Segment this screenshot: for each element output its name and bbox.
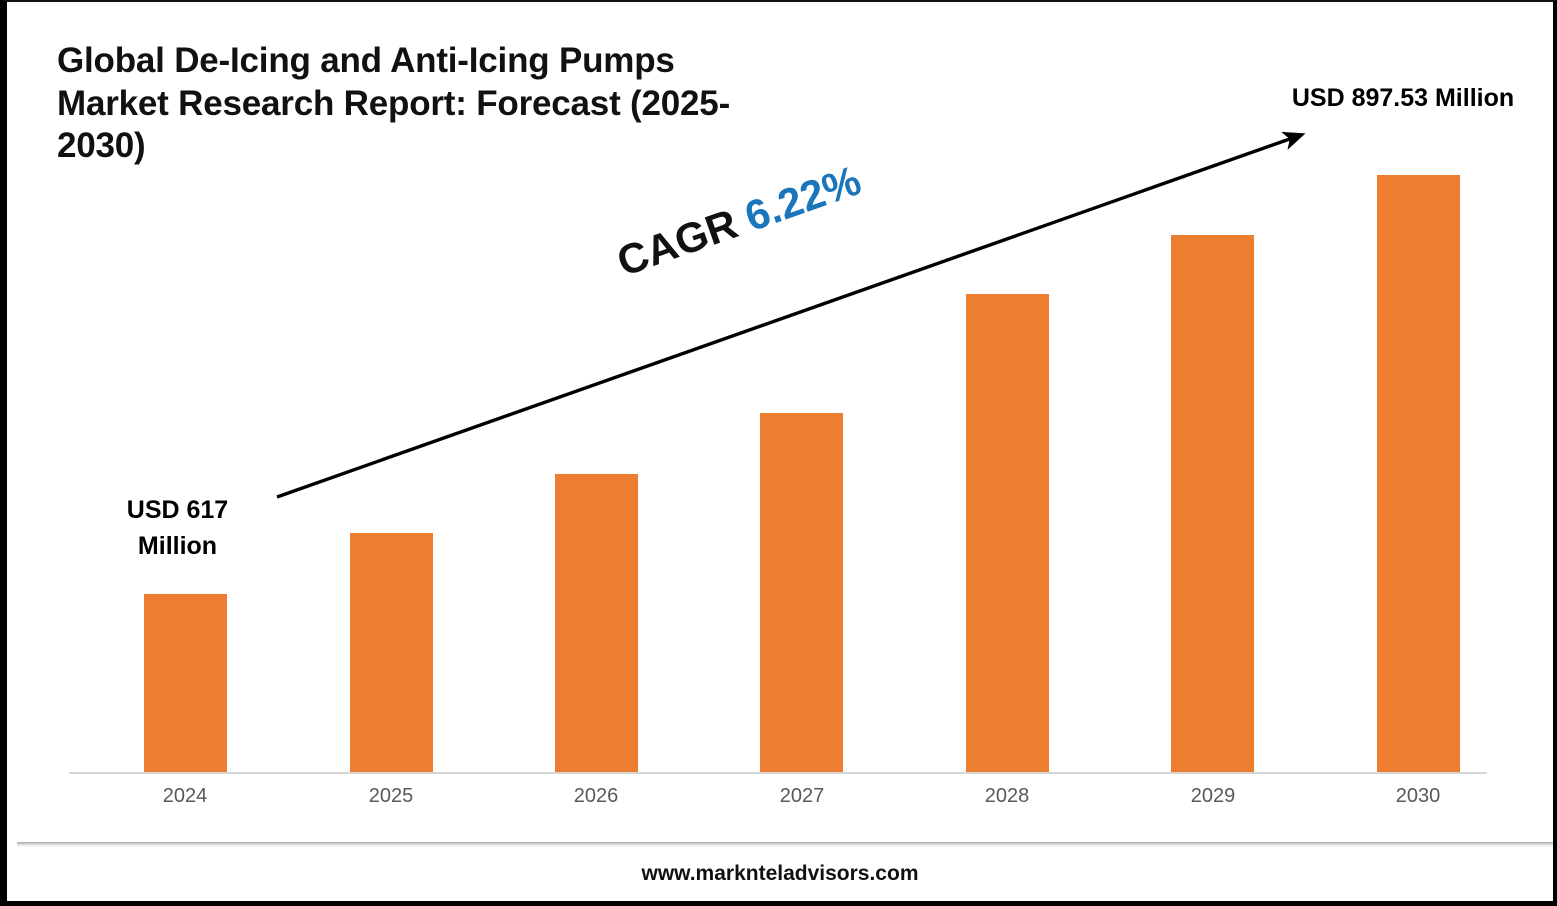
x-tick-2030: 2030 bbox=[1358, 785, 1478, 808]
x-tick-2024: 2024 bbox=[125, 785, 245, 808]
bar-2030 bbox=[1377, 175, 1460, 772]
start-value-callout: USD 617 Million bbox=[85, 493, 270, 564]
chart-canvas: Global De-Icing and Anti-Icing Pumps Mar… bbox=[0, 0, 1557, 906]
x-tick-2027: 2027 bbox=[742, 785, 862, 808]
footer-url: www.marknteladvisors.com bbox=[7, 862, 1553, 886]
bar-2026 bbox=[555, 474, 638, 772]
x-tick-2029: 2029 bbox=[1153, 785, 1273, 808]
x-tick-2026: 2026 bbox=[536, 785, 656, 808]
bar-2029 bbox=[1171, 235, 1254, 772]
end-value-callout: USD 897.53 Million bbox=[1288, 81, 1518, 117]
x-tick-2028: 2028 bbox=[947, 785, 1067, 808]
bar-2028 bbox=[966, 294, 1049, 772]
x-axis-line bbox=[69, 772, 1487, 774]
footer-divider bbox=[17, 842, 1553, 847]
chart-inner-panel: Global De-Icing and Anti-Icing Pumps Mar… bbox=[7, 2, 1553, 901]
plot-area: 2024 2025 2026 2027 2028 2029 2030 bbox=[7, 2, 1553, 901]
bar-2024 bbox=[144, 594, 227, 772]
bar-2027 bbox=[760, 413, 843, 772]
bar-2025 bbox=[350, 533, 433, 772]
x-tick-2025: 2025 bbox=[331, 785, 451, 808]
